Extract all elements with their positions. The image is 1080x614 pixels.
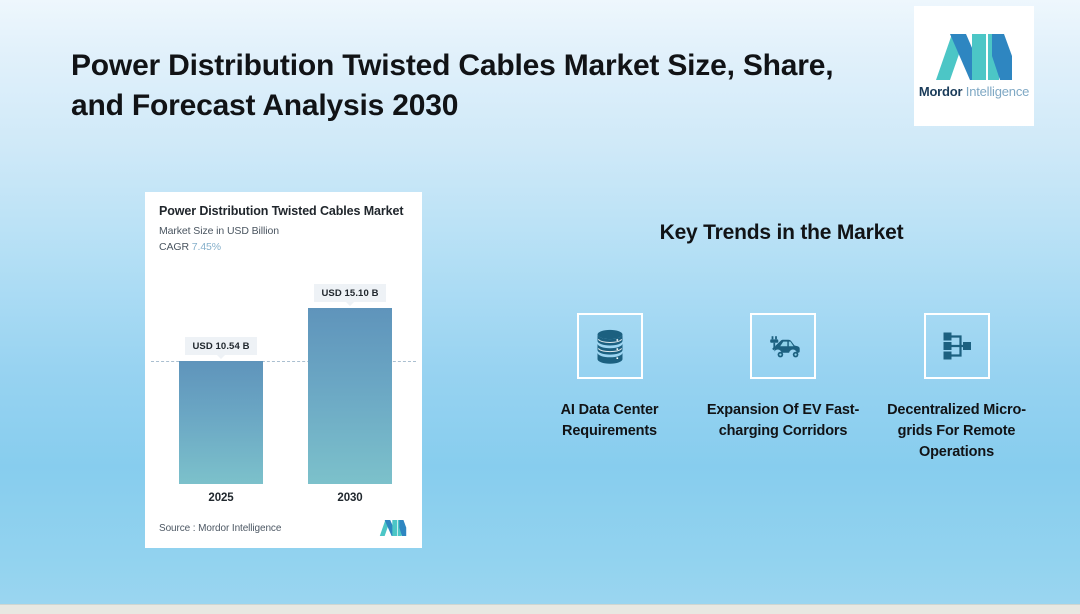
trend-label: AI Data Center Requirements: [528, 400, 691, 442]
page-title: Power Distribution Twisted Cables Market…: [71, 46, 861, 125]
chart-source: Source : Mordor Intelligence: [159, 523, 281, 534]
trend-label: Expansion Of EV Fast-charging Corridors: [702, 400, 865, 442]
chart-title: Power Distribution Twisted Cables Market: [159, 203, 408, 220]
database-icon: [590, 326, 630, 366]
chart-cagr: CAGR 7.45%: [159, 241, 408, 253]
chart-footer: Source : Mordor Intelligence: [145, 508, 422, 548]
trend-item-decentralized-microgrids: Decentralized Micro-grids For Remote Ope…: [875, 313, 1038, 463]
bar-value-label: USD 15.10 B: [314, 284, 385, 302]
bar-chart-plot-area: USD 10.54 B 2025 USD 15.10 B 2030: [145, 284, 422, 506]
trend-label: Decentralized Micro-grids For Remote Ope…: [875, 400, 1038, 463]
network-nodes-icon: [937, 326, 977, 366]
logo-wordmark-bold: Mordor: [919, 84, 963, 99]
bar-group-2030: USD 15.10 B 2030: [308, 284, 392, 484]
key-trends-heading: Key Trends in the Market: [540, 221, 1023, 245]
chart-subtitle: Market Size in USD Billion: [159, 225, 408, 237]
bar-value-label: USD 10.54 B: [185, 337, 256, 355]
mordor-logo-mark-icon: [936, 34, 1012, 80]
bar-category-label: 2030: [337, 492, 362, 504]
trend-item-ev-fast-charging: Expansion Of EV Fast-charging Corridors: [702, 313, 865, 442]
bar-2030: [308, 308, 392, 484]
market-size-chart-card: Power Distribution Twisted Cables Market…: [145, 192, 422, 548]
electric-vehicle-charging-icon: [763, 326, 803, 366]
trend-item-ai-data-center: AI Data Center Requirements: [528, 313, 691, 442]
trend-icon-box: [750, 313, 816, 379]
source-label: Source :: [159, 523, 195, 534]
logo-wordmark-light: Intelligence: [962, 84, 1029, 99]
cagr-value: 7.45%: [192, 241, 221, 253]
logo-wordmark: Mordor Intelligence: [919, 84, 1029, 99]
trend-icon-box: [577, 313, 643, 379]
slide-canvas: Power Distribution Twisted Cables Market…: [0, 0, 1080, 614]
footer-mordor-logo-icon: [378, 520, 408, 536]
bar-group-2025: USD 10.54 B 2025: [179, 337, 263, 484]
bar-2025: [179, 361, 263, 484]
mordor-intelligence-logo-badge: Mordor Intelligence: [914, 6, 1034, 126]
source-name: Mordor Intelligence: [198, 523, 281, 534]
key-trends-row: AI Data Center Requirements: [528, 313, 1038, 463]
bottom-edge-strip: [0, 604, 1080, 614]
bar-category-label: 2025: [208, 492, 233, 504]
trend-icon-box: [924, 313, 990, 379]
cagr-label: CAGR: [159, 241, 189, 253]
chart-header: Power Distribution Twisted Cables Market…: [145, 192, 422, 253]
